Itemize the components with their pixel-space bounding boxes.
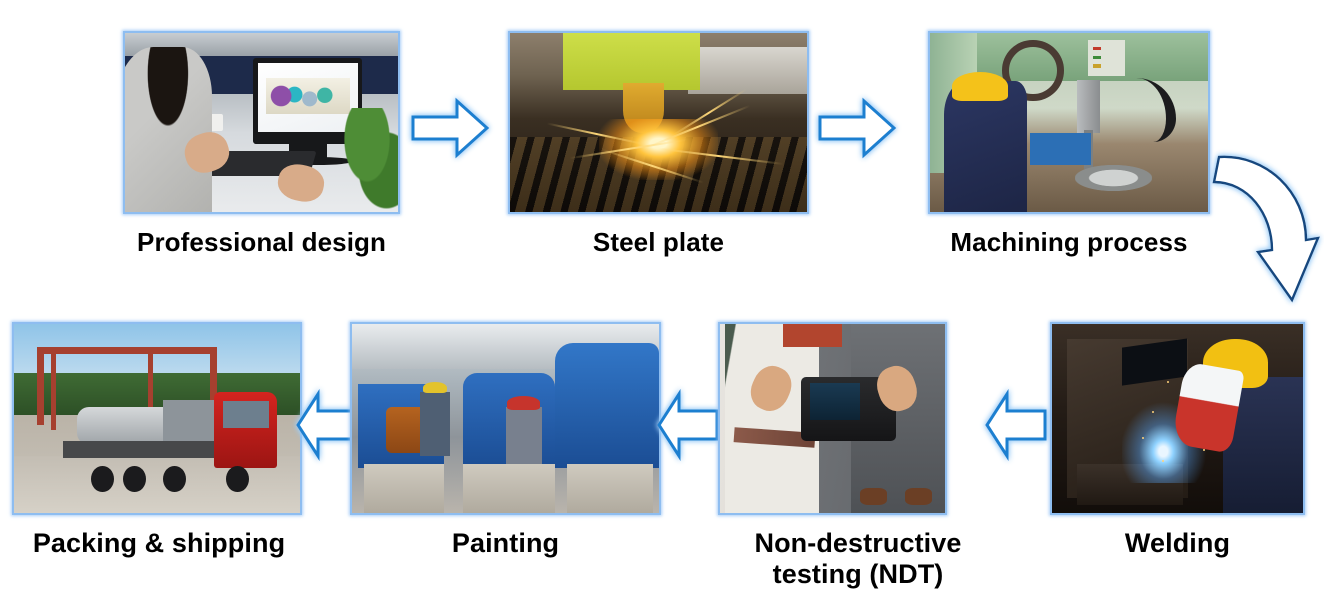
step-label-painting: Painting (350, 528, 661, 559)
step-image-steel-plate (508, 31, 809, 214)
step-card-welding[interactable] (1050, 322, 1305, 515)
step-card-non-destructive-testing[interactable] (718, 322, 947, 515)
step-image-non-destructive-testing (718, 322, 947, 515)
step-label-non-destructive-testing: Non-destructive testing (NDT) (713, 528, 1003, 590)
step-image-painting (350, 322, 661, 515)
step-label-steel-plate: Steel plate (508, 228, 809, 258)
step-image-packing-shipping (12, 322, 302, 515)
step-card-packing-shipping[interactable] (12, 322, 302, 515)
arrow-welding-to-ndt (985, 389, 1047, 461)
step-card-steel-plate[interactable] (508, 31, 809, 214)
arrow-design-to-steel-plate (411, 98, 489, 158)
arrow-ndt-to-painting (657, 389, 719, 461)
arrow-steel-plate-to-machining (818, 98, 896, 158)
step-label-professional-design: Professional design (95, 228, 428, 258)
arrow-painting-to-packing (296, 389, 358, 461)
step-image-machining-process (928, 31, 1210, 214)
process-flow-diagram: Professional design Steel plate (0, 0, 1324, 614)
step-image-welding (1050, 322, 1305, 515)
step-label-welding: Welding (1050, 528, 1305, 559)
step-label-machining-process: Machining process (910, 228, 1228, 258)
step-card-professional-design[interactable] (123, 31, 400, 214)
step-image-professional-design (123, 31, 400, 214)
arrow-machining-to-welding-curved (1206, 134, 1324, 310)
step-card-machining-process[interactable] (928, 31, 1210, 214)
step-card-painting[interactable] (350, 322, 661, 515)
step-label-packing-shipping: Packing & shipping (0, 528, 318, 559)
